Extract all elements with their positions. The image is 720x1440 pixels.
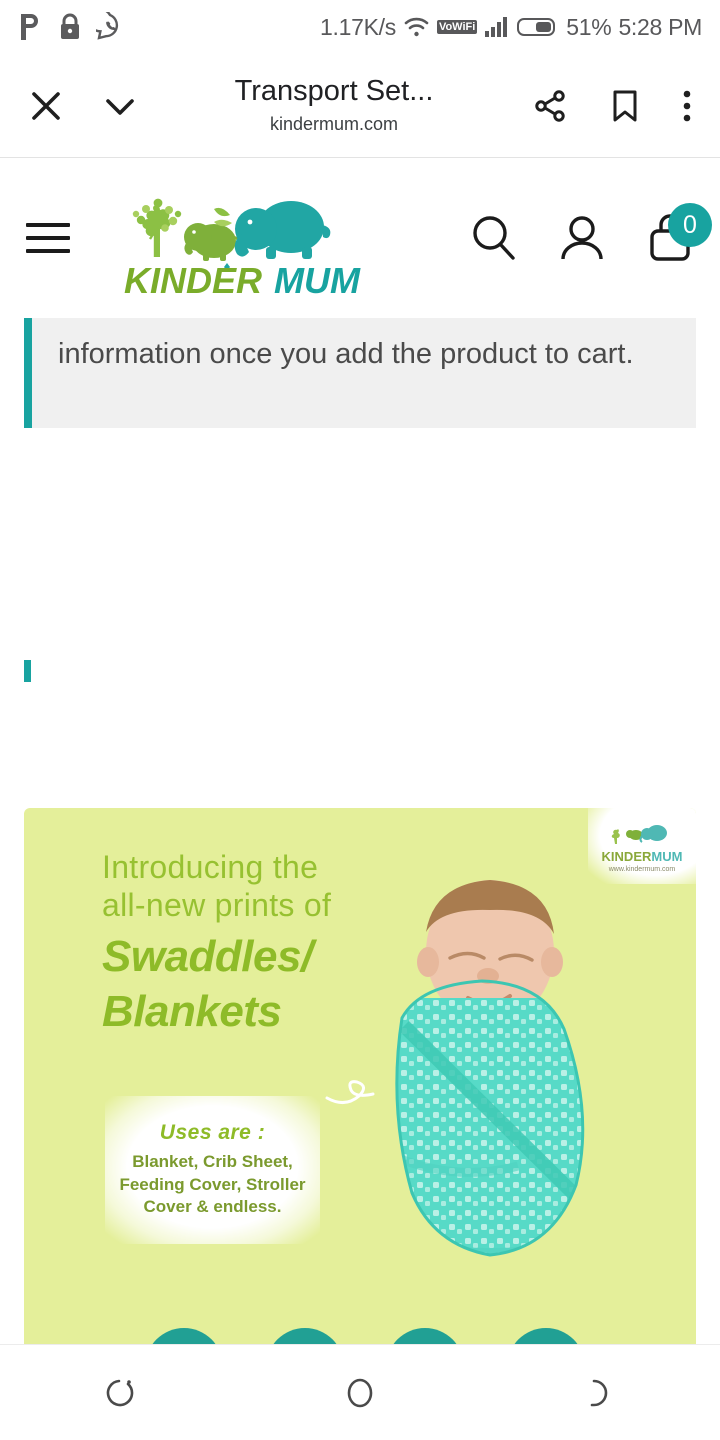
web-page-content: information once you add the product to … (0, 318, 720, 1438)
page-scrollbar[interactable] (24, 618, 31, 718)
uses-title: Uses are : (160, 1121, 265, 1145)
logo-text-mum: MUM (274, 260, 361, 297)
scrollbar-thumb[interactable] (24, 660, 31, 682)
uses-line-3: Cover & endless. (119, 1196, 305, 1218)
menu-icon[interactable] (26, 223, 70, 253)
chevron-down-icon[interactable] (100, 86, 140, 126)
decorative-squiggle-icon (325, 1066, 381, 1110)
baby-swaddle-photo (368, 858, 628, 1298)
site-header: KINDER MUM 0 (0, 158, 720, 318)
logo-baby-elephant-icon (184, 223, 239, 261)
browser-title-block[interactable]: Transport Set... kindermum.com (152, 76, 516, 135)
whatsapp-icon (96, 12, 124, 42)
network-speed: 1.17K/s (320, 14, 396, 41)
headline-line-1: Introducing the (102, 848, 402, 886)
android-navigation-bar (0, 1344, 720, 1440)
headline-big-line-1: Swaddles/ (102, 933, 402, 981)
browser-toolbar: Transport Set... kindermum.com (0, 54, 720, 158)
notice-text: information once you add the product to … (58, 338, 634, 370)
logo-tree-icon (133, 199, 181, 257)
signal-bars-icon (484, 16, 510, 38)
wifi-icon (403, 15, 430, 39)
p-app-icon (18, 12, 44, 42)
headline-line-2: all-new prints of (102, 886, 402, 924)
close-icon[interactable] (26, 86, 66, 126)
more-options-icon[interactable] (680, 86, 694, 126)
account-icon[interactable] (556, 212, 608, 264)
back-icon (580, 1373, 620, 1413)
uses-line-2: Feeding Cover, Stroller (119, 1174, 305, 1196)
cart-count-badge: 0 (668, 203, 712, 247)
site-logo[interactable]: KINDER MUM (106, 179, 406, 297)
watermark-text-mum: MUM (651, 849, 682, 864)
headline-big-line-2: Blankets (102, 988, 402, 1036)
bookmark-icon[interactable] (608, 86, 642, 126)
search-icon[interactable] (468, 212, 520, 264)
recents-icon (100, 1373, 140, 1413)
hamburger-line (26, 249, 70, 253)
home-icon (340, 1373, 380, 1413)
banner-uses-callout: Uses are : Blanket, Crib Sheet, Feeding … (105, 1096, 320, 1244)
battery-icon (517, 16, 559, 38)
lock-icon (58, 12, 82, 42)
watermark-logo-icon (609, 824, 675, 850)
hamburger-line (26, 223, 70, 227)
uses-line-1: Blanket, Crib Sheet, (119, 1151, 305, 1173)
back-button[interactable] (540, 1373, 660, 1413)
recents-button[interactable] (60, 1373, 180, 1413)
product-notice-box: information once you add the product to … (24, 318, 696, 428)
status-bar-clock: 5:28 PM (618, 14, 702, 41)
share-icon[interactable] (530, 86, 570, 126)
status-bar-notification-icons (18, 12, 124, 42)
page-title: Transport Set... (235, 76, 434, 108)
banner-headline: Introducing the all-new prints of Swaddl… (102, 848, 402, 1036)
page-url: kindermum.com (270, 114, 398, 135)
status-bar-system-info: 1.17K/s VoWiFi 51% 5:28 PM (320, 14, 702, 41)
battery-percent: 51% (566, 14, 611, 41)
hamburger-line (26, 236, 70, 240)
home-button[interactable] (300, 1373, 420, 1413)
vowifi-badge: VoWiFi (437, 20, 477, 34)
android-status-bar: 1.17K/s VoWiFi 51% 5:28 PM (0, 0, 720, 54)
cart-button[interactable]: 0 (644, 212, 696, 264)
logo-text-kinder: KINDER (124, 260, 262, 297)
